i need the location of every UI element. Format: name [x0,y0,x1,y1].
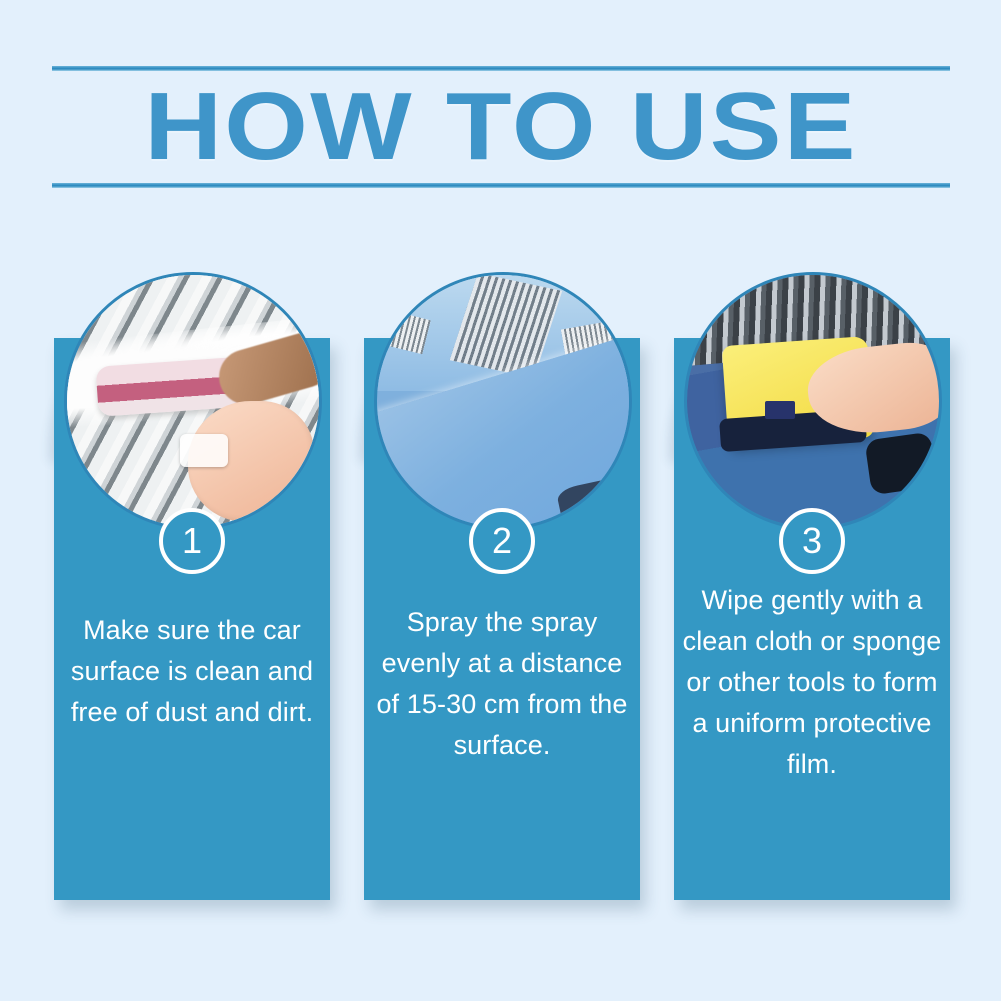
step-caption-2: Spray the spray evenly at a distance of … [372,602,632,766]
steps-row: 1 Make sure the car surface is clean and… [54,272,950,912]
step-card-3: 3 Wipe gently with a clean cloth or spon… [674,272,950,900]
step-card-2: 2 Spray the spray evenly at a distance o… [364,272,640,900]
step-caption-1: Make sure the car surface is clean and f… [62,610,322,733]
blue-car-hood-reflection-photo [374,272,632,530]
how-to-use-infographic: HOW TO USE 1 Make sure the car surface i… [0,0,1001,1001]
hand-yellow-microfiber-towel-photo [684,272,942,530]
header: HOW TO USE [52,66,950,188]
step-badge-1: 1 [159,508,225,574]
step-card-1: 1 Make sure the car surface is clean and… [54,272,330,900]
bottle-cap-shape [180,434,228,467]
dark-reflection-shape [865,432,938,496]
page-title: HOW TO USE [0,76,1001,178]
car-wash-sponge-foam-photo [64,272,322,530]
towel-tag-shape [765,401,795,419]
step-badge-2: 2 [469,508,535,574]
step-badge-3: 3 [779,508,845,574]
title-rule-top [52,66,950,71]
step-caption-3: Wipe gently with a clean cloth or sponge… [682,580,942,785]
title-rule-bottom [52,183,950,188]
